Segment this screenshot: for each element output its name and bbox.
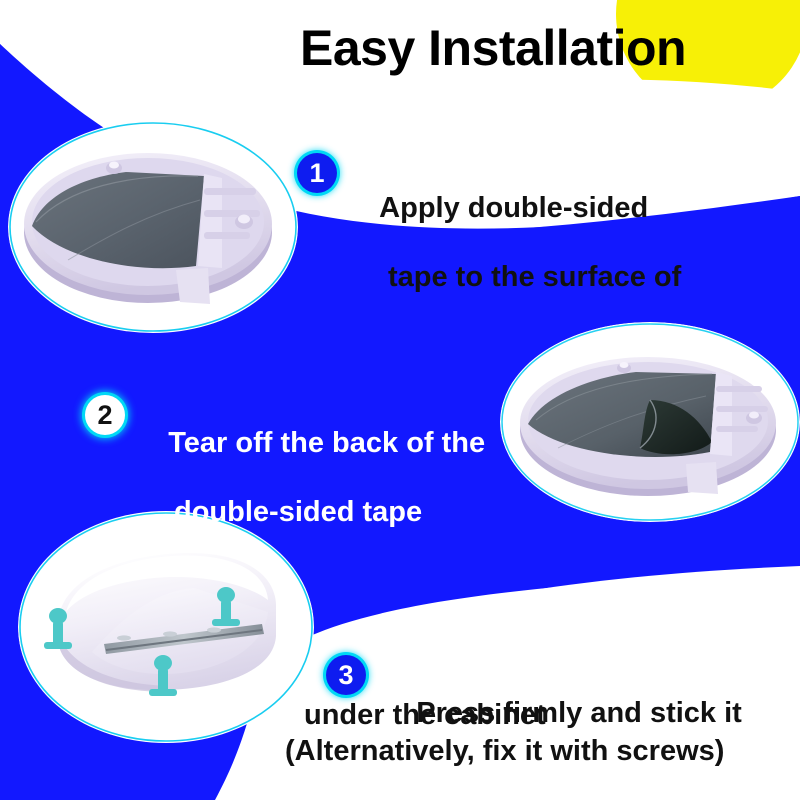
step-1-photo <box>8 118 298 336</box>
step-2-line-1: Tear off the back of the <box>168 427 485 459</box>
product-base-with-tape <box>8 118 298 336</box>
step-3-text: Press firmly and stick it under the cabi… <box>384 662 742 800</box>
step-1-badge: 1 <box>297 153 337 193</box>
step-2-text: Tear off the back of the double-sided ta… <box>136 392 485 597</box>
step-1-text: Apply double-sided tape to the surface o… <box>348 157 681 362</box>
infographic-canvas: Easy Installation <box>0 0 800 800</box>
step-1-line-2: tape to the surface of <box>348 260 681 294</box>
step-1-line-1: Apply double-sided <box>379 192 648 224</box>
page-title: Easy Installation <box>300 22 770 75</box>
step-3-line-2: under the cabinet <box>304 698 546 732</box>
step-2-line-2: double-sided tape <box>136 495 485 529</box>
step-3-badge: 3 <box>326 655 366 695</box>
step-2-badge: 2 <box>85 395 125 435</box>
step-3-line-3: (Alternatively, fix it with screws) <box>285 734 724 768</box>
